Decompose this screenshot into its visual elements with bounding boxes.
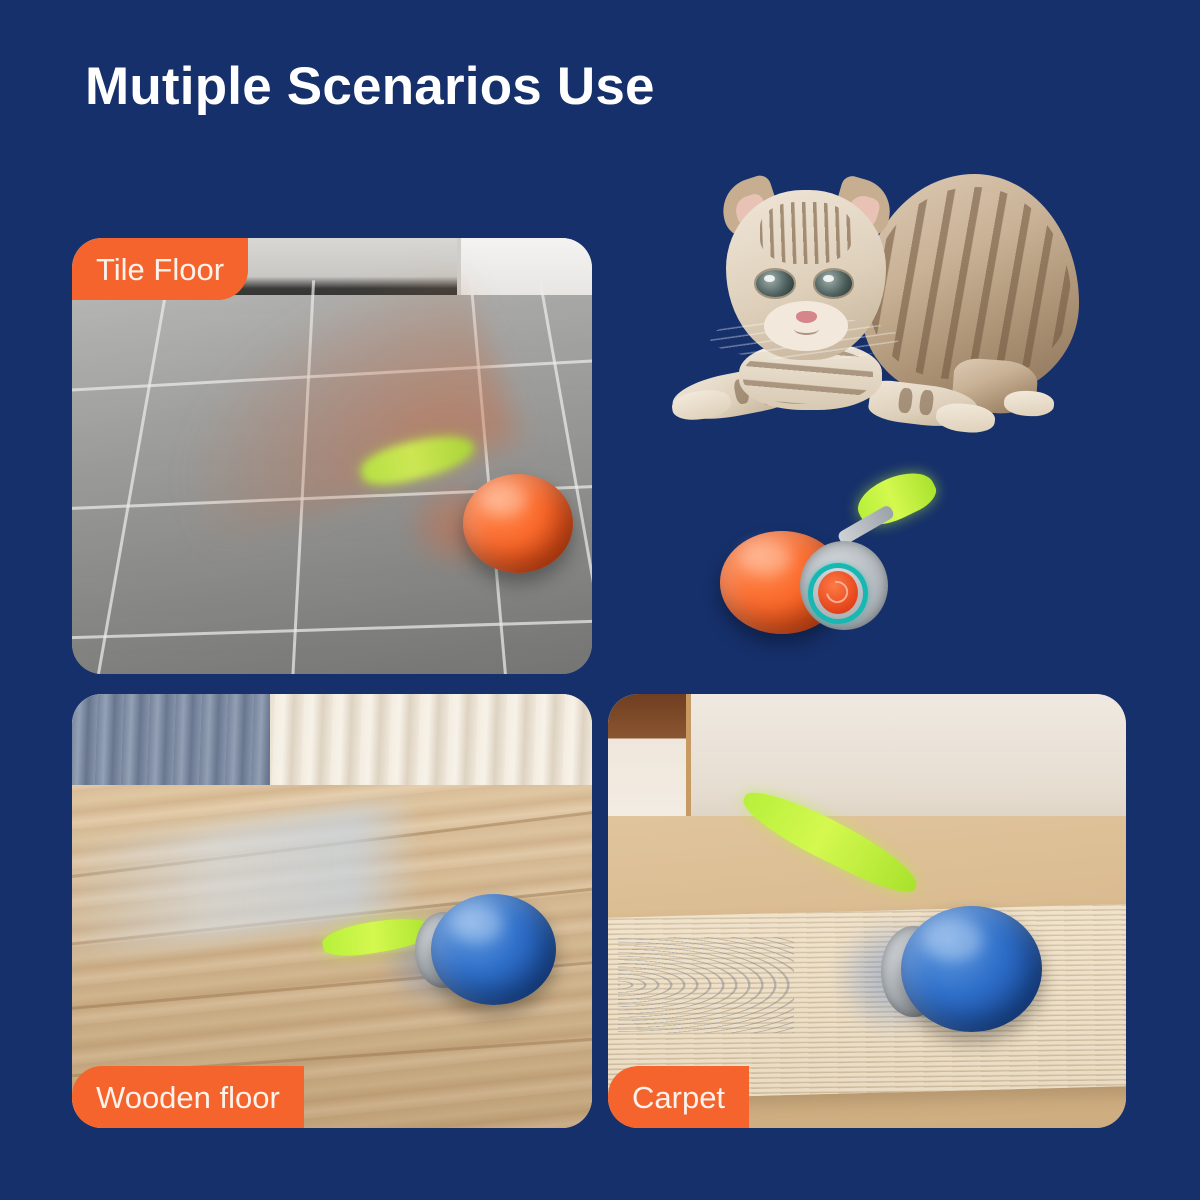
ball-body [463,474,573,573]
wooden-floor-scene [72,694,592,1128]
cat-ball-toy [753,816,1074,1068]
framed-picture [608,694,691,816]
promo-canvas: Mutiple Scenarios Use [0,0,1200,1200]
badge-wooden-floor: Wooden floor [72,1066,304,1128]
cat-eye-left [756,270,794,296]
cat-ball-toy [322,868,582,1059]
white-cabinet [457,238,592,299]
ball-body [901,906,1042,1032]
badge-label: Carpet [632,1082,725,1113]
ball-body [431,894,556,1005]
page-title: Mutiple Scenarios Use [85,56,655,117]
grout-line [92,282,169,674]
cat-nose [796,311,817,323]
carpet-scene [608,694,1126,1128]
scenario-panel-wooden[interactable] [72,694,592,1128]
tile-floor-scene [72,238,592,674]
kitten-photo [676,168,1096,478]
grout-line [72,619,592,640]
product-hero-ball [716,480,916,640]
badge-carpet: Carpet [608,1066,749,1128]
curtains [72,694,592,794]
feather-wand-icon [358,427,478,490]
scenario-panel-tile[interactable] [72,238,592,674]
badge-label: Wooden floor [96,1082,280,1113]
cat-eye-right [815,270,853,296]
badge-label: Tile Floor [96,254,224,285]
cat-forehead-stripes [760,202,852,264]
cat-ball-toy [358,430,592,613]
badge-tile-floor: Tile Floor [72,238,248,300]
cat-paw [1003,390,1055,417]
scenario-panel-carpet[interactable] [608,694,1126,1128]
